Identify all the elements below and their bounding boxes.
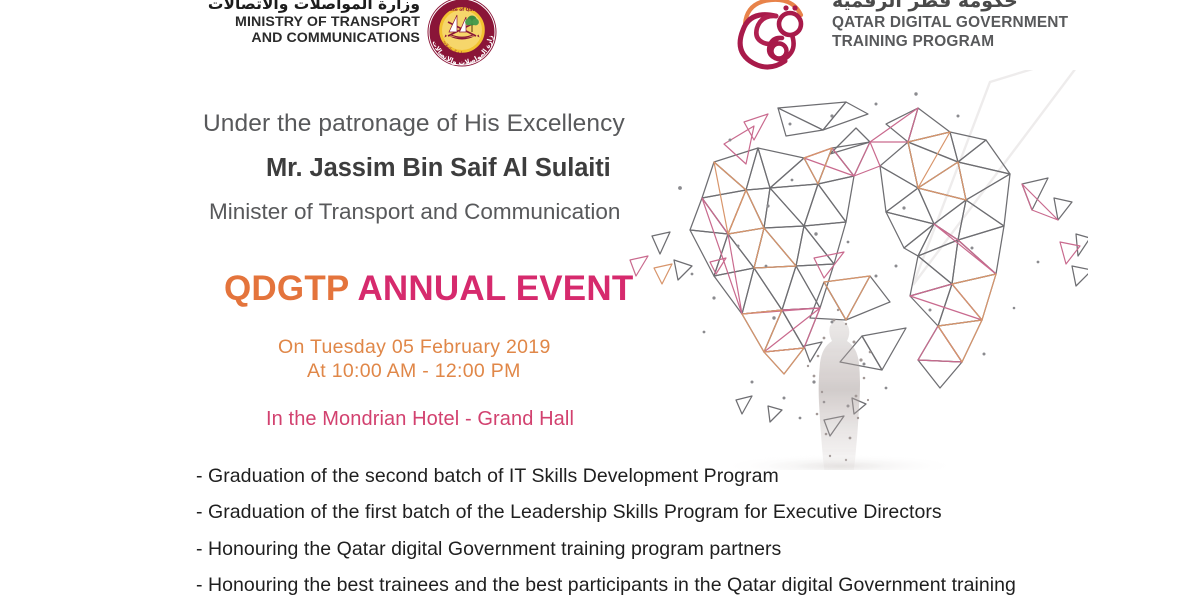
low-poly-globe-illustration — [618, 70, 1088, 470]
ministry-logo-text: وزارة المواصلات والاتصالات MINISTRY OF T… — [188, 0, 420, 47]
event-time: At 10:00 AM - 12:00 PM — [307, 360, 521, 383]
qdg-swirl-mark-icon — [732, 0, 818, 72]
state-of-qatar-emblem-icon: State of Qatar وزارة المواصلات وزارة الم… — [426, 0, 498, 68]
ministry-english-line1: MINISTRY OF TRANSPORT — [188, 14, 420, 30]
agenda-item: - Graduation of the first batch of the L… — [196, 494, 1156, 530]
event-venue: In the Mondrian Hotel - Grand Hall — [266, 408, 574, 431]
agenda-item: - Graduation of the second batch of IT S… — [196, 458, 1156, 494]
agenda-item: - Honouring the Qatar digital Government… — [196, 531, 1156, 567]
qdg-english-line2: TRAINING PROGRAM — [832, 33, 1068, 52]
minister-title: Minister of Transport and Communication — [209, 199, 620, 225]
event-poster: وزارة المواصلات والاتصالات MINISTRY OF T… — [0, 0, 1200, 600]
agenda-item: - Honouring the best trainees and the be… — [196, 567, 1156, 600]
ministry-arabic-name: وزارة المواصلات والاتصالات — [188, 0, 420, 13]
agenda-list: - Graduation of the second batch of IT S… — [196, 458, 1156, 600]
svg-text:State of Qatar: State of Qatar — [445, 7, 480, 13]
ministry-of-transport-logo: وزارة المواصلات والاتصالات MINISTRY OF T… — [188, 0, 518, 74]
header-logo-band: وزارة المواصلات والاتصالات MINISTRY OF T… — [0, 0, 1200, 80]
event-title-acronym: QDGTP — [224, 269, 357, 308]
minister-name: Mr. Jassim Bin Saif Al Sulaiti — [266, 154, 611, 183]
qdg-logo-text: حكومة قطر الرقمية QATAR DIGITAL GOVERNME… — [832, 0, 1068, 51]
ministry-english-line2: AND COMMUNICATIONS — [188, 30, 420, 46]
qatar-digital-government-logo: حكومة قطر الرقمية QATAR DIGITAL GOVERNME… — [732, 0, 1082, 74]
event-title: QDGTP ANNUAL EVENT — [224, 269, 633, 309]
qdg-arabic-name: حكومة قطر الرقمية — [832, 0, 1068, 14]
event-title-name: ANNUAL EVENT — [357, 269, 633, 308]
qdg-english-line1: QATAR DIGITAL GOVERNMENT — [832, 14, 1068, 33]
patronage-line: Under the patronage of His Excellency — [203, 110, 625, 138]
event-date: On Tuesday 05 February 2019 — [278, 336, 551, 359]
dissolving-human-figure — [720, 309, 960, 470]
